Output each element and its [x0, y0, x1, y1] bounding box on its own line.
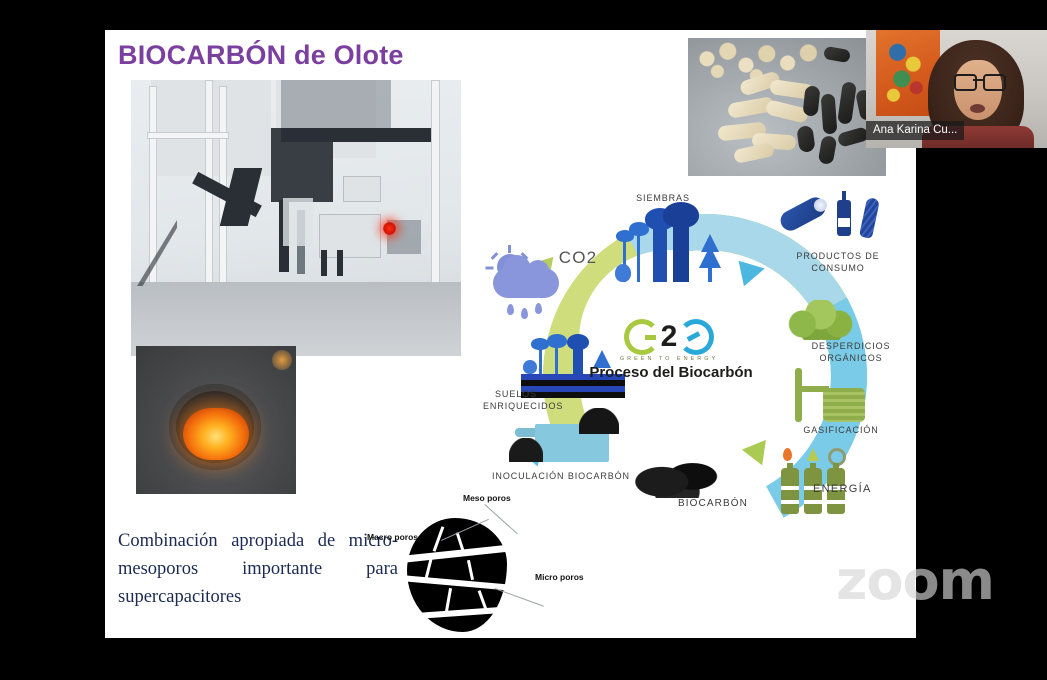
- slide-body-text: Combinación apropiada de micro-mesoporos…: [118, 528, 398, 611]
- inoculation-icon: [509, 404, 621, 470]
- logo-letter-g-icon: [624, 319, 660, 355]
- glasses-icon: [954, 74, 1002, 87]
- pore-label-micro: Micro poros: [535, 572, 584, 582]
- participant-name-badge: Ana Karina Cu...: [866, 121, 964, 140]
- cycle-label-co2: CO2: [543, 247, 613, 270]
- cycle-label-siembras: SIEMBRAS: [618, 192, 708, 204]
- logo-digit-2: 2: [661, 324, 678, 350]
- participant-video-tile[interactable]: Ana Karina Cu...: [866, 30, 1047, 148]
- cycle-label-suelos: SUELOS ENRIQUECIDOS: [483, 389, 549, 412]
- pore-label-macro: Macro poros: [367, 532, 418, 542]
- pore-structure-figure: Macro poros Meso poros Micro poros: [367, 490, 627, 638]
- cycle-label-biocarbon: BIOCARBÓN: [668, 497, 758, 511]
- biochar-pile-icon: [633, 444, 729, 498]
- kiln-embers-photo: [136, 346, 296, 494]
- zoom-meeting-stage: BIOCARBÓN de Olote: [0, 0, 1047, 680]
- pore-label-meso: Meso poros: [463, 493, 511, 503]
- porous-carbon-particle: [407, 518, 507, 632]
- plantings-icon: [615, 210, 725, 282]
- logo-tagline: GREEN TO ENERGY: [595, 356, 743, 362]
- shared-slide: BIOCARBÓN de Olote: [105, 30, 916, 638]
- cycle-arrow-right: [739, 256, 768, 286]
- cycle-label-inoculacion: INOCULACIÓN BIOCARBÓN: [491, 470, 631, 482]
- gasification-icon: [789, 368, 867, 424]
- g2e-logo: 2 GREEN TO ENERGY: [595, 320, 743, 362]
- cycle-label-productos: PRODUCTOS DE CONSUMO: [783, 250, 893, 274]
- biochar-cycle-diagram: SIEMBRAS PRODUCTOS DE CONSUMO DESPERDICI…: [483, 192, 913, 522]
- cycle-label-desperdicios: DESPERDICIOS ORGÁNICOS: [798, 340, 904, 364]
- cycle-center-caption: Proceso del Biocarbón: [561, 364, 781, 381]
- logo-letter-e-icon: [678, 319, 714, 355]
- biochar-pellets-photo: [688, 38, 886, 176]
- page-title: BIOCARBÓN de Olote: [118, 40, 404, 71]
- cycle-label-energia: ENERGÍA: [813, 482, 883, 497]
- organic-waste-icon: [787, 300, 857, 340]
- consumer-products-icon: [779, 198, 887, 250]
- cycle-label-gasificacion: GASIFICACIÓN: [795, 424, 887, 436]
- gasification-plant-photo: [131, 80, 461, 356]
